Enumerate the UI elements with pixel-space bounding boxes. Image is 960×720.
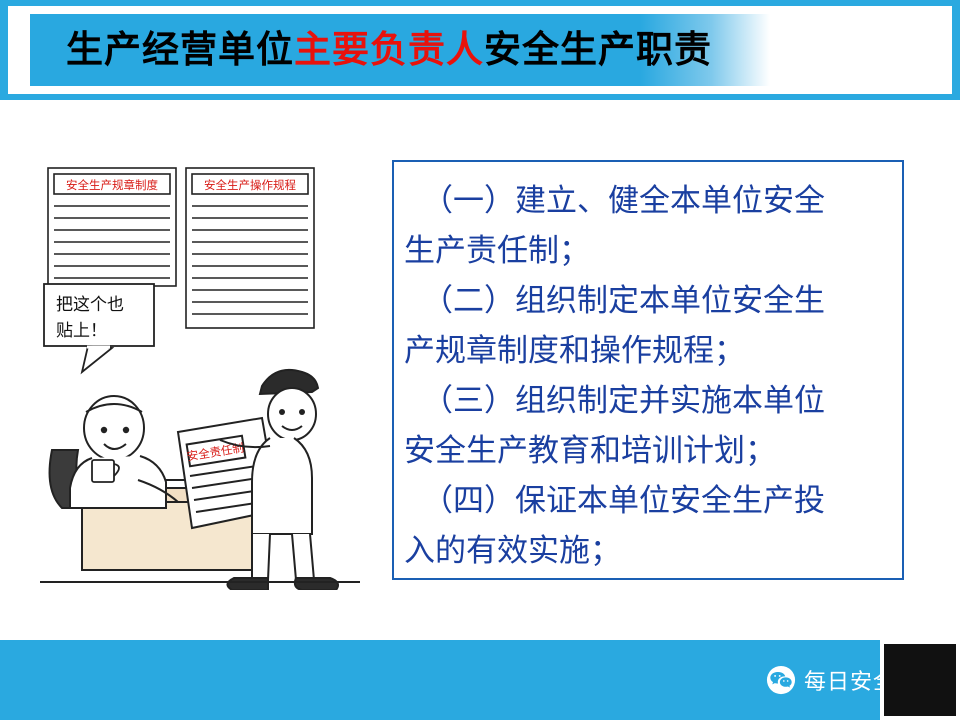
poster-left-title: 安全生产规章制度 [66, 178, 158, 192]
text-line-8: 入的有效实施； [404, 526, 888, 576]
slide-header: 生产经营单位主要负责人安全生产职责 [0, 0, 960, 100]
page-title-part1: 生产经营单位 [66, 28, 294, 71]
poster-right [186, 168, 314, 328]
slide: 生产经营单位主要负责人安全生产职责 安全生产规 [0, 0, 960, 720]
page-title-part2: 安全生产职责 [484, 28, 712, 71]
text-line-4: 产规章制度和操作规程； [404, 326, 888, 376]
text-line-3: （二）组织制定本单位安全生 [404, 276, 888, 326]
wechat-icon [766, 665, 796, 695]
text-line-1: （一）建立、健全本单位安全 [404, 176, 888, 226]
speech-bubble-line2: 贴上！ [56, 321, 107, 341]
text-line-7: （四）保证本单位安全生产投 [404, 476, 888, 526]
slide-body: 安全生产规章制度 安全生产操作规程 [0, 100, 960, 620]
illustration-svg: 安全生产规章制度 安全生产操作规程 [30, 150, 370, 590]
poster-right-title: 安全生产操作规程 [204, 178, 296, 192]
text-line-5: （三）组织制定并实施本单位 [404, 376, 888, 426]
slide-footer: 每日安全生产 [0, 640, 960, 720]
illustration-cartoon: 安全生产规章制度 安全生产操作规程 [30, 150, 370, 590]
text-line-2: 生产责任制； [404, 226, 888, 276]
responsibilities-textbox: （一）建立、健全本单位安全 生产责任制； （二）组织制定本单位安全生 产规章制度… [392, 160, 904, 580]
speech-bubble-line1: 把这个也 [56, 295, 124, 315]
qr-code-image [884, 644, 956, 716]
text-line-6: 安全生产教育和培训计划； [404, 426, 888, 476]
page-title-highlight: 主要负责人 [294, 28, 484, 71]
page-title: 生产经营单位主要负责人安全生产职责 [66, 24, 712, 76]
